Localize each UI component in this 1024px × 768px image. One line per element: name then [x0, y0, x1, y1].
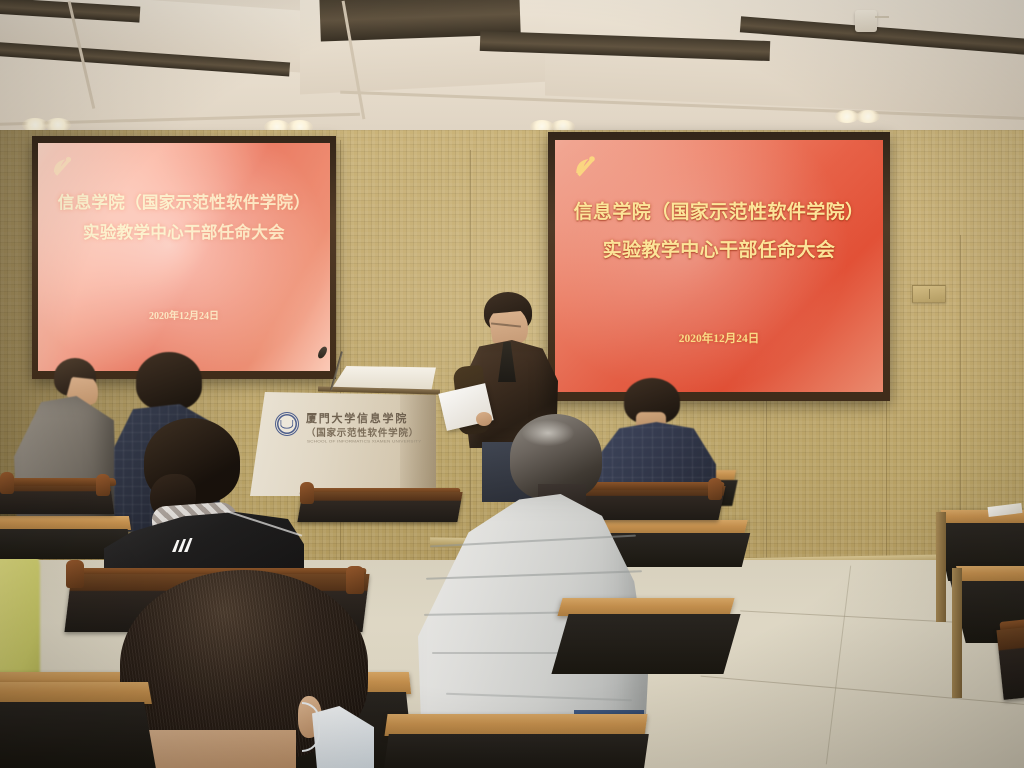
- lectern-school-name-cn: 厦門大学信息学院: [306, 410, 408, 426]
- audience-woman-ponytail: [104, 418, 304, 578]
- bench-armrest-knob-1: [708, 478, 722, 500]
- wall-seam-3: [766, 375, 767, 570]
- cpc-emblem-icon: [571, 152, 599, 180]
- lectern-school-name-en: SCHOOL OF INFORMATICS XIAMEN UNIVERSITY: [307, 440, 421, 444]
- navy-check-hair: [136, 352, 202, 410]
- bench-armrest-knob-2: [0, 472, 14, 494]
- adidas-logo-icon: [170, 538, 196, 552]
- white-vest-hair-highlight: [522, 420, 574, 446]
- desk-row-front-right-2: [384, 714, 647, 736]
- lectern-school-subtitle-cn: （国家示范性软件学院）: [306, 425, 419, 439]
- desk-foreground-left: [0, 682, 152, 704]
- photograph-meeting-room: 信息学院（国家示范性软件学院） 实验教学中心干部任命大会 2020年12月24日…: [0, 0, 1024, 768]
- audience-masked-person: [116, 570, 386, 768]
- ceiling-sensor: [855, 10, 877, 32]
- desk-right-lower-leg: [952, 568, 962, 698]
- left-screen-title-line1: 信息学院（国家示范性软件学院）: [38, 189, 330, 213]
- desk-right-upper-leg: [936, 512, 946, 622]
- left-screen-surface: 信息学院（国家示范性软件学院） 实验教学中心干部任命大会 2020年12月24日: [38, 143, 330, 371]
- left-projection-screen: 信息学院（国家示范性软件学院） 实验教学中心干部任命大会 2020年12月24日: [32, 136, 336, 379]
- right-screen-title-line2: 实验教学中心干部任命大会: [555, 235, 883, 262]
- right-screen-surface: 信息学院（国家示范性软件学院） 实验教学中心干部任命大会 2020年12月24日: [555, 140, 883, 392]
- face-mask-icon: [312, 706, 374, 768]
- desk-right-lower: [956, 566, 1024, 582]
- right-screen-title-line1: 信息学院（国家示范性软件学院）: [555, 197, 883, 224]
- wall-switch-plate[interactable]: [912, 285, 946, 303]
- masked-person-neck: [146, 730, 296, 768]
- cpc-emblem-icon: [49, 153, 75, 179]
- desk-front-right-2: [383, 734, 649, 768]
- right-projection-screen: 信息学院（国家示范性软件学院） 实验教学中心干部任命大会 2020年12月24日: [548, 132, 890, 401]
- downlight-8: [856, 110, 880, 123]
- desk-foreground-left-front: [0, 702, 156, 768]
- wall-switch-divider: [929, 289, 930, 299]
- left-screen-date: 2020年12月24日: [38, 307, 330, 322]
- bench-armrest-knob-5: [66, 560, 84, 588]
- desk-front-front-right: [551, 614, 740, 674]
- left-screen-title-line2: 实验教学中心干部任命大会: [38, 219, 330, 243]
- right-screen-date: 2020年12月24日: [555, 330, 883, 346]
